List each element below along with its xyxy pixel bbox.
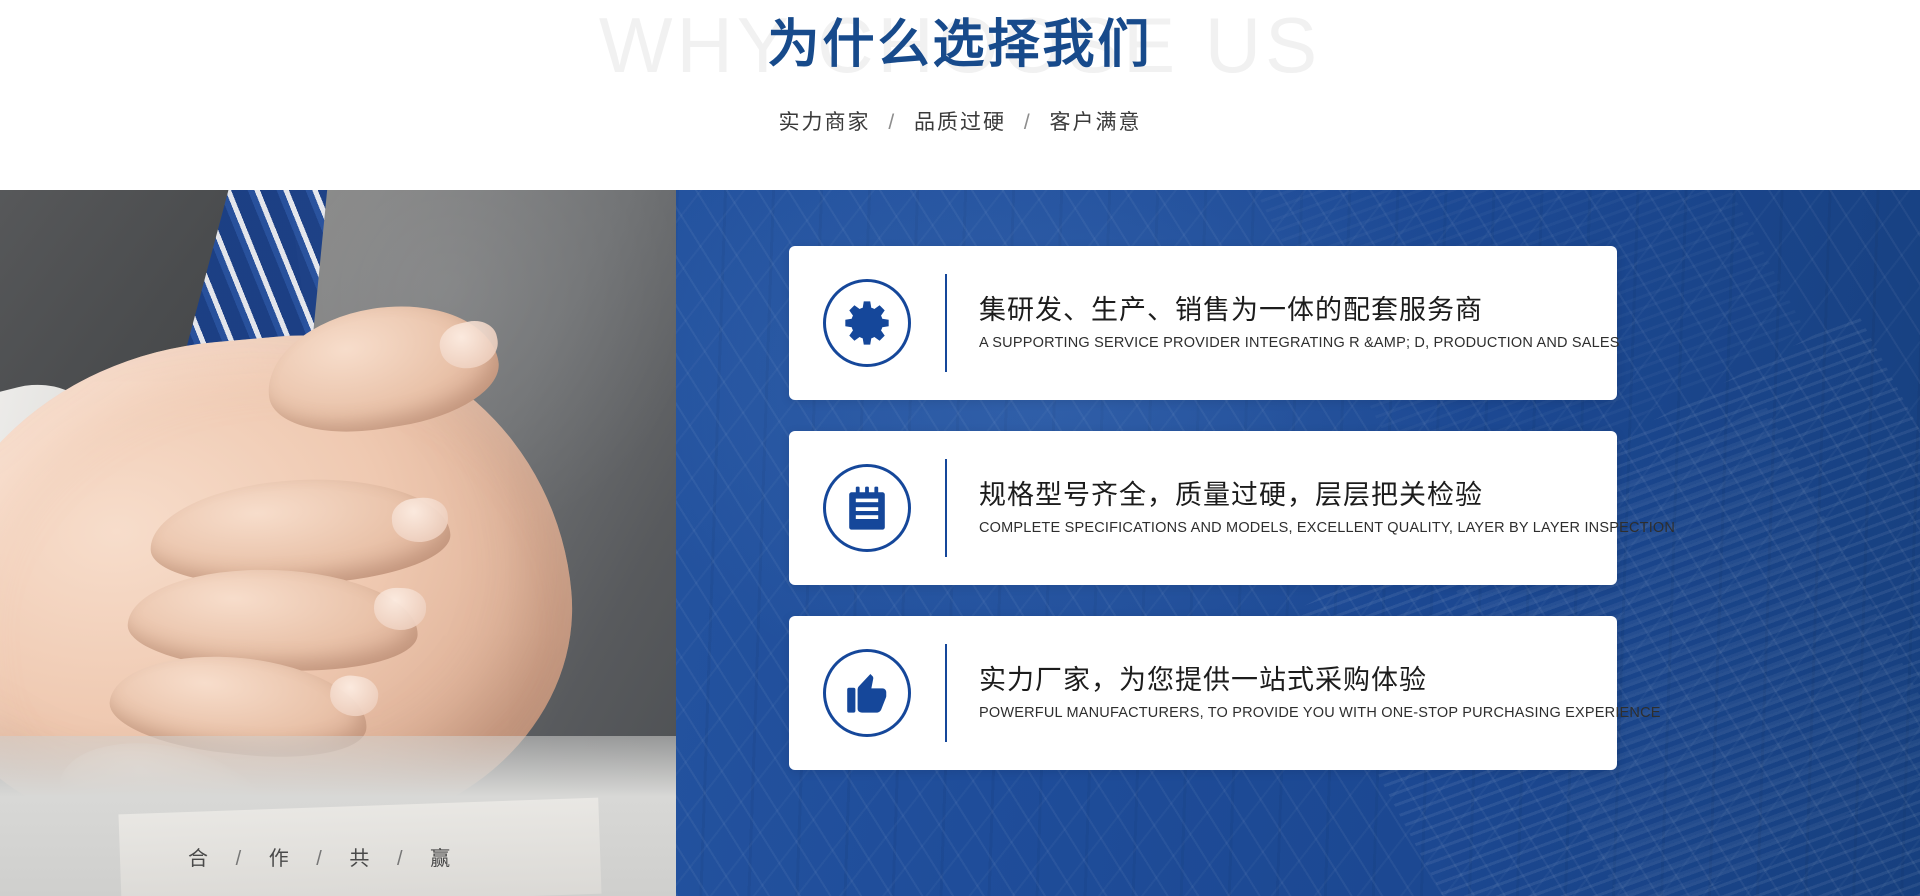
- feature-title-cn: 规格型号齐全，质量过硬，层层把关检验: [979, 479, 1675, 511]
- caption-separator-3: /: [383, 848, 421, 870]
- subtitle-part-1: 实力商家: [778, 111, 870, 134]
- caption-separator-2: /: [302, 848, 340, 870]
- caption-char-2: 作: [269, 848, 293, 870]
- feature-card[interactable]: 实力厂家，为您提供一站式采购体验 POWERFUL MANUFACTURERS,…: [789, 616, 1617, 770]
- caption-char-1: 合: [188, 848, 212, 870]
- caption-char-3: 共: [349, 848, 373, 870]
- caption-char-4: 赢: [430, 848, 454, 870]
- caption-separator-1: /: [222, 848, 260, 870]
- feature-icon-wrap: [789, 649, 945, 737]
- feature-text: 实力厂家，为您提供一站式采购体验 POWERFUL MANUFACTURERS,…: [947, 664, 1679, 723]
- gear-icon: [842, 298, 892, 348]
- subtitle-part-3: 客户满意: [1050, 111, 1142, 134]
- features-panel: 集研发、生产、销售为一体的配套服务商 A SUPPORTING SERVICE …: [676, 190, 1920, 896]
- page-title: 为什么选择我们: [0, 14, 1920, 76]
- feature-title-cn: 集研发、生产、销售为一体的配套服务商: [979, 294, 1620, 326]
- feature-text: 规格型号齐全，质量过硬，层层把关检验 COMPLETE SPECIFICATIO…: [947, 479, 1693, 538]
- content-split: 合 / 作 / 共 / 赢: [0, 190, 1920, 896]
- icon-circle: [823, 279, 911, 367]
- feature-title-en: POWERFUL MANUFACTURERS, TO PROVIDE YOU W…: [979, 705, 1661, 722]
- handshake-photo: 合 / 作 / 共 / 赢: [0, 190, 676, 896]
- feature-card-list: 集研发、生产、销售为一体的配套服务商 A SUPPORTING SERVICE …: [789, 246, 1617, 770]
- subtitle-separator-2: /: [1014, 111, 1042, 134]
- icon-circle: [823, 464, 911, 552]
- section-header: WHY CHOOSE US 为什么选择我们 实力商家 / 品质过硬 / 客户满意: [0, 0, 1920, 190]
- header-subtitle: 实力商家 / 品质过硬 / 客户满意: [0, 106, 1920, 136]
- subtitle-part-2: 品质过硬: [914, 111, 1006, 134]
- photo-caption: 合 / 作 / 共 / 赢: [188, 842, 454, 871]
- clipboard-icon: [843, 484, 891, 532]
- subtitle-separator-1: /: [878, 111, 906, 134]
- feature-title-en: A SUPPORTING SERVICE PROVIDER INTEGRATIN…: [979, 335, 1620, 352]
- feature-title-cn: 实力厂家，为您提供一站式采购体验: [979, 664, 1661, 696]
- feature-title-en: COMPLETE SPECIFICATIONS AND MODELS, EXCE…: [979, 520, 1675, 537]
- thumbs-up-icon: [843, 669, 891, 717]
- feature-text: 集研发、生产、销售为一体的配套服务商 A SUPPORTING SERVICE …: [947, 294, 1638, 353]
- why-choose-us-section: WHY CHOOSE US 为什么选择我们 实力商家 / 品质过硬 / 客户满意: [0, 0, 1920, 896]
- feature-icon-wrap: [789, 464, 945, 552]
- feature-icon-wrap: [789, 279, 945, 367]
- icon-circle: [823, 649, 911, 737]
- feature-card[interactable]: 集研发、生产、销售为一体的配套服务商 A SUPPORTING SERVICE …: [789, 246, 1617, 400]
- feature-card[interactable]: 规格型号齐全，质量过硬，层层把关检验 COMPLETE SPECIFICATIO…: [789, 431, 1617, 585]
